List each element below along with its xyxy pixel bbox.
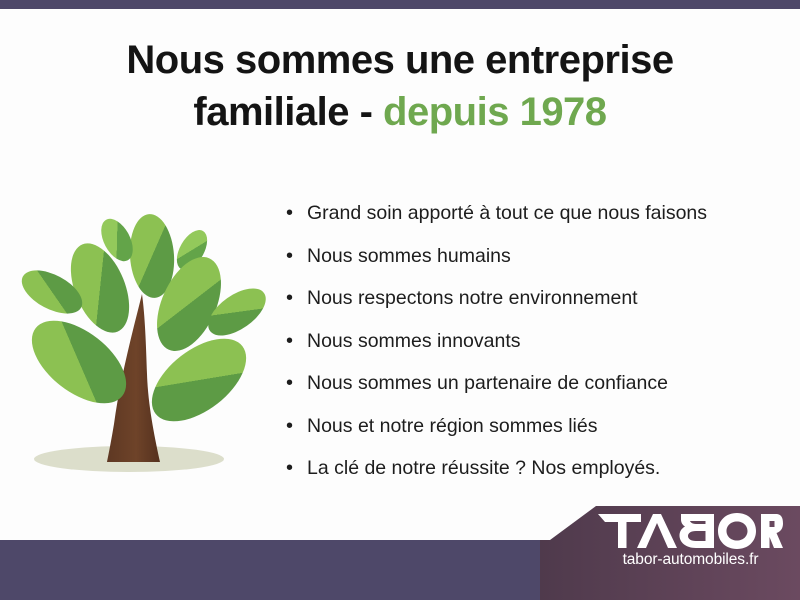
list-item-label: Nous sommes humains — [307, 235, 511, 278]
list-item: • Nous sommes un partenaire de confiance — [286, 362, 786, 405]
list-item-label: Nous sommes innovants — [307, 320, 521, 363]
headline-accent: depuis 1978 — [383, 90, 607, 134]
brand-url: tabor-automobiles.fr — [598, 551, 783, 569]
brand-logo[interactable]: tabor-automobiles.fr — [598, 512, 783, 569]
bullet-marker-icon: • — [286, 277, 307, 320]
bullet-marker-icon: • — [286, 405, 307, 448]
bullet-marker-icon: • — [286, 362, 307, 405]
list-item: • Nous et notre région sommes liés — [286, 405, 786, 448]
list-item-label: La clé de notre réussite ? Nos employés. — [307, 447, 660, 490]
bullet-marker-icon: • — [286, 192, 307, 235]
list-item-label: Nous et notre région sommes liés — [307, 405, 597, 448]
list-item: • La clé de notre réussite ? Nos employé… — [286, 447, 786, 490]
headline-line-1: Nous sommes une entreprise — [126, 38, 673, 82]
top-accent-band — [0, 0, 800, 9]
tabor-wordmark-icon — [598, 512, 783, 550]
values-list: • Grand soin apporté à tout ce que nous … — [286, 192, 786, 490]
page-title: Nous sommes une entreprise familiale - d… — [0, 34, 800, 138]
list-item-label: Nous respectons notre environnement — [307, 277, 638, 320]
list-item: • Grand soin apporté à tout ce que nous … — [286, 192, 786, 235]
headline-dash: - — [349, 90, 383, 134]
list-item-label: Grand soin apporté à tout ce que nous fa… — [307, 192, 707, 235]
headline-line-2: familiale - depuis 1978 — [0, 86, 800, 138]
headline-line-2-main: familiale — [193, 90, 349, 134]
bullet-marker-icon: • — [286, 320, 307, 363]
list-item: • Nous sommes humains — [286, 235, 786, 278]
list-item: • Nous sommes innovants — [286, 320, 786, 363]
bullet-marker-icon: • — [286, 447, 307, 490]
tree-icon — [14, 184, 270, 484]
list-item-label: Nous sommes un partenaire de confiance — [307, 362, 668, 405]
list-item: • Nous respectons notre environnement — [286, 277, 786, 320]
bullet-marker-icon: • — [286, 235, 307, 278]
slide-canvas: Nous sommes une entreprise familiale - d… — [0, 0, 800, 600]
